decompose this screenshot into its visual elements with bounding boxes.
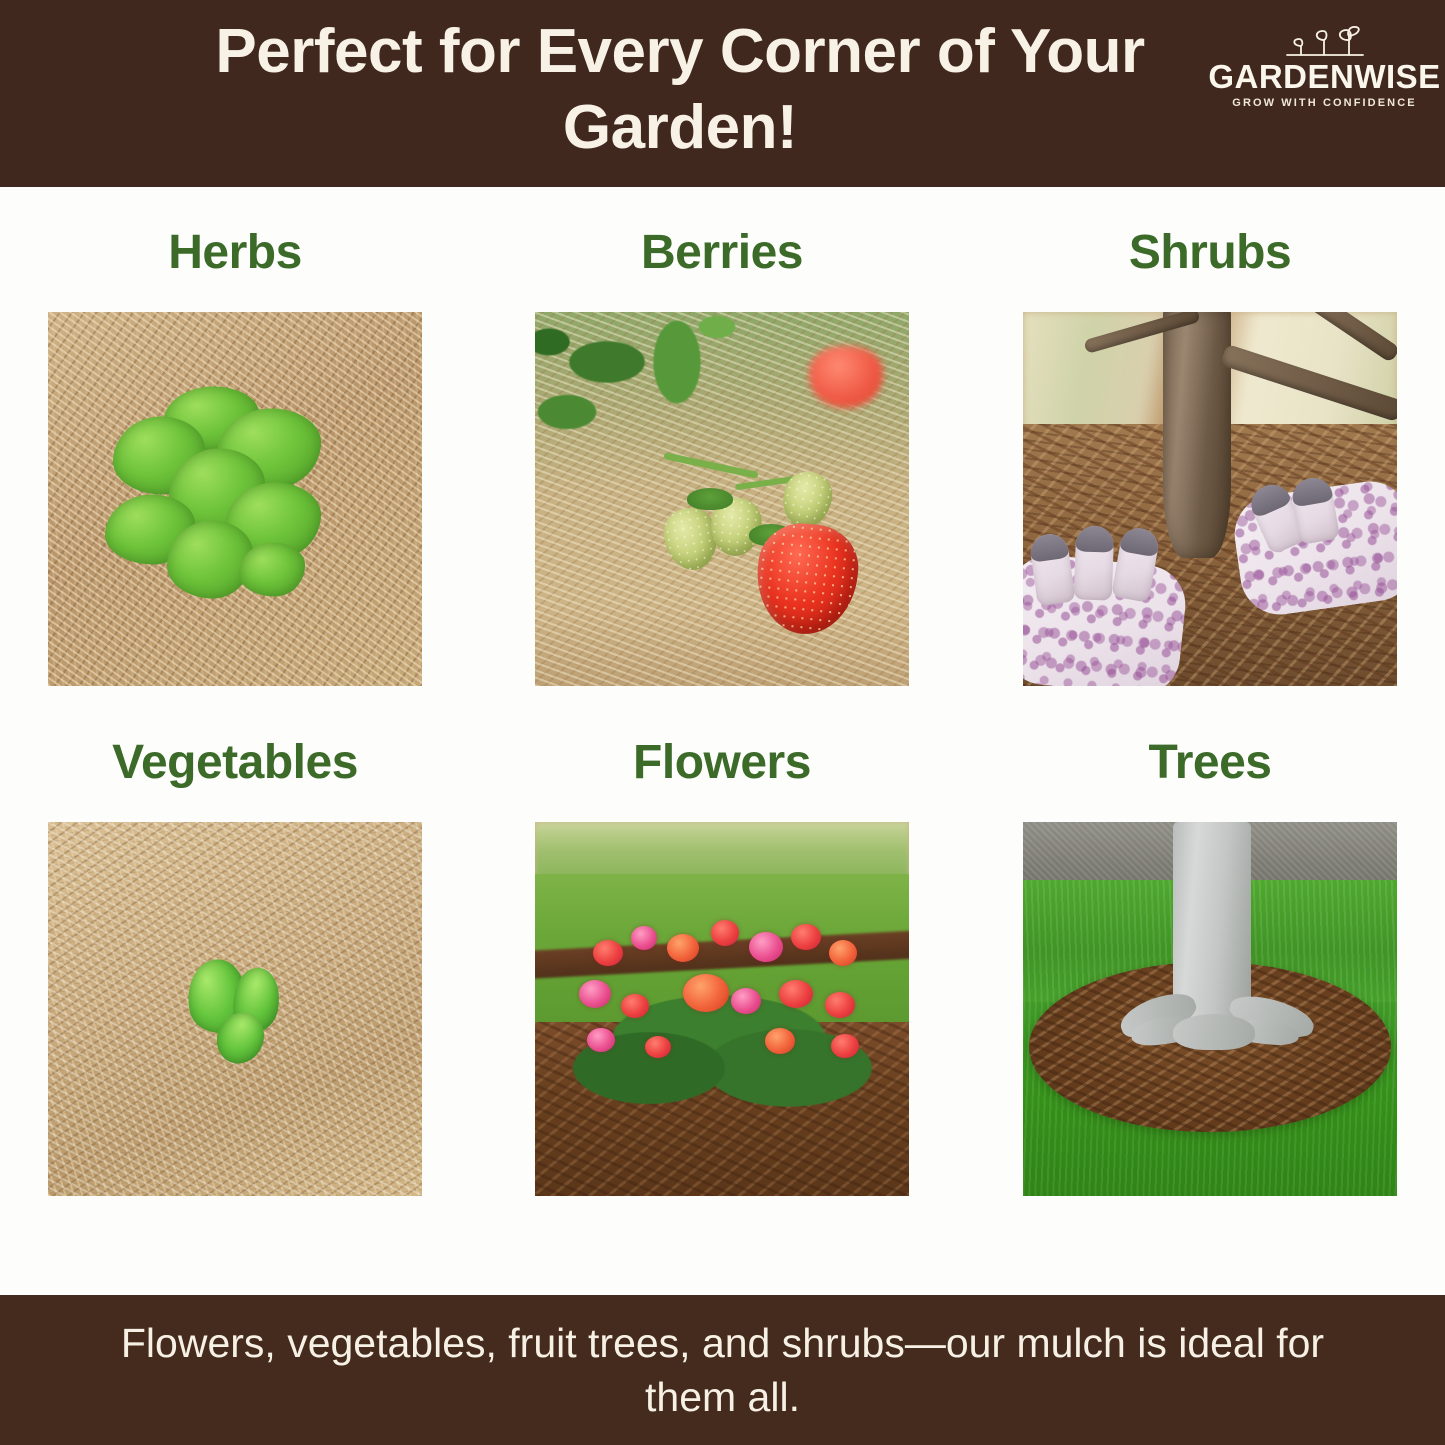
photo-shrubs bbox=[1023, 312, 1397, 686]
cell-label-shrubs: Shrubs bbox=[1023, 227, 1397, 279]
logo-tagline: GROW WITH CONFIDENCE bbox=[1232, 97, 1416, 109]
page-title: Perfect for Every Corner of Your Garden! bbox=[110, 14, 1250, 166]
cell-label-herbs: Herbs bbox=[48, 227, 422, 279]
photo-vegetables bbox=[48, 822, 422, 1196]
grid-cell-flowers: Flowers bbox=[535, 737, 909, 1196]
photo-trees bbox=[1023, 822, 1397, 1196]
grid-cell-trees: Trees bbox=[1023, 737, 1397, 1196]
promo-infographic: Perfect for Every Corner of Your Garden! bbox=[0, 0, 1445, 1445]
use-case-grid: Herbs Berries bbox=[0, 187, 1445, 1295]
sprout-leaves-icon bbox=[1222, 24, 1427, 60]
photo-berries bbox=[535, 312, 909, 686]
cell-label-berries: Berries bbox=[535, 227, 909, 279]
footer-caption: Flowers, vegetables, fruit trees, and sh… bbox=[93, 1316, 1353, 1424]
logo-wordmark: GARDENWISE bbox=[1208, 60, 1440, 94]
grid-cell-herbs: Herbs bbox=[48, 227, 422, 686]
brand-logo: GARDENWISE GROW WITH CONFIDENCE bbox=[1222, 24, 1427, 116]
photo-flowers bbox=[535, 822, 909, 1196]
photo-herbs bbox=[48, 312, 422, 686]
header-banner: Perfect for Every Corner of Your Garden! bbox=[0, 0, 1445, 187]
cell-label-trees: Trees bbox=[1023, 737, 1397, 789]
grid-cell-berries: Berries bbox=[535, 227, 909, 686]
grid-cell-vegetables: Vegetables bbox=[48, 737, 422, 1196]
cell-label-flowers: Flowers bbox=[535, 737, 909, 789]
footer-banner: Flowers, vegetables, fruit trees, and sh… bbox=[0, 1295, 1445, 1445]
cell-label-vegetables: Vegetables bbox=[48, 737, 422, 789]
grid-cell-shrubs: Shrubs bbox=[1023, 227, 1397, 686]
